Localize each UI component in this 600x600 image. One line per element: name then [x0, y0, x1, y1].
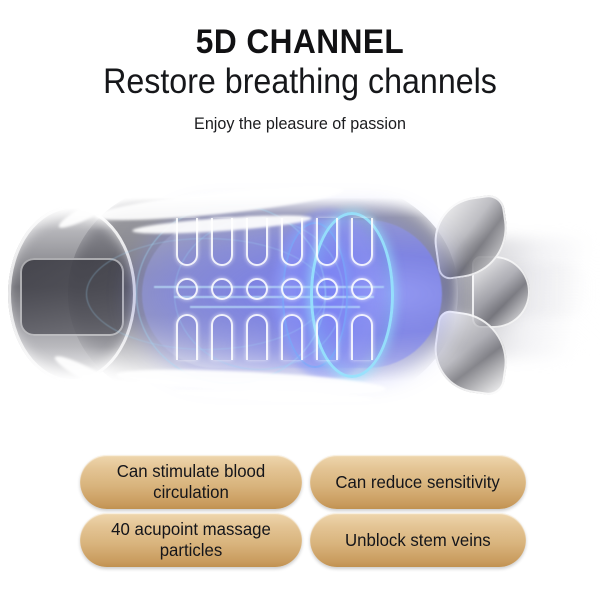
massage-particle	[281, 218, 303, 266]
page-subtitle: Restore breathing channels	[24, 60, 576, 104]
feature-pill-label: 40 acupoint massage particles	[98, 519, 284, 561]
massage-particle	[246, 314, 268, 360]
massage-particle	[351, 278, 373, 300]
massage-particle	[246, 278, 268, 300]
massage-particle	[176, 278, 198, 300]
massage-particle	[316, 218, 338, 266]
feature-pill-unblock-veins[interactable]: Unblock stem veins	[310, 513, 526, 567]
transparent-sleeve	[24, 174, 504, 412]
massage-particle	[281, 314, 303, 360]
massage-particle	[211, 314, 233, 360]
massage-particle	[281, 278, 303, 300]
product-image	[0, 152, 600, 432]
massage-particle	[351, 218, 373, 266]
feature-pill-acupoint-particles[interactable]: 40 acupoint massage particles	[80, 513, 302, 567]
massage-particle-grid	[142, 214, 442, 384]
feature-list: Can stimulate blood circulation 40 acupo…	[0, 448, 600, 574]
page-title: 5D CHANNEL	[21, 22, 579, 62]
page-tagline: Enjoy the pleasure of passion	[15, 113, 585, 135]
feature-pill-label: Can stimulate blood circulation	[98, 461, 284, 503]
massage-particle	[176, 314, 198, 360]
massage-particle	[351, 314, 373, 360]
massage-particle	[316, 278, 338, 300]
feature-pill-label: Unblock stem veins	[345, 530, 491, 551]
feature-pill-reduce-sensitivity[interactable]: Can reduce sensitivity	[310, 455, 526, 509]
massage-particle	[316, 314, 338, 360]
header-block: 5D CHANNEL Restore breathing channels En…	[0, 0, 600, 150]
feature-pill-blood-circulation[interactable]: Can stimulate blood circulation	[80, 455, 302, 509]
feature-pill-label: Can reduce sensitivity	[336, 472, 500, 493]
massage-particle	[211, 278, 233, 300]
